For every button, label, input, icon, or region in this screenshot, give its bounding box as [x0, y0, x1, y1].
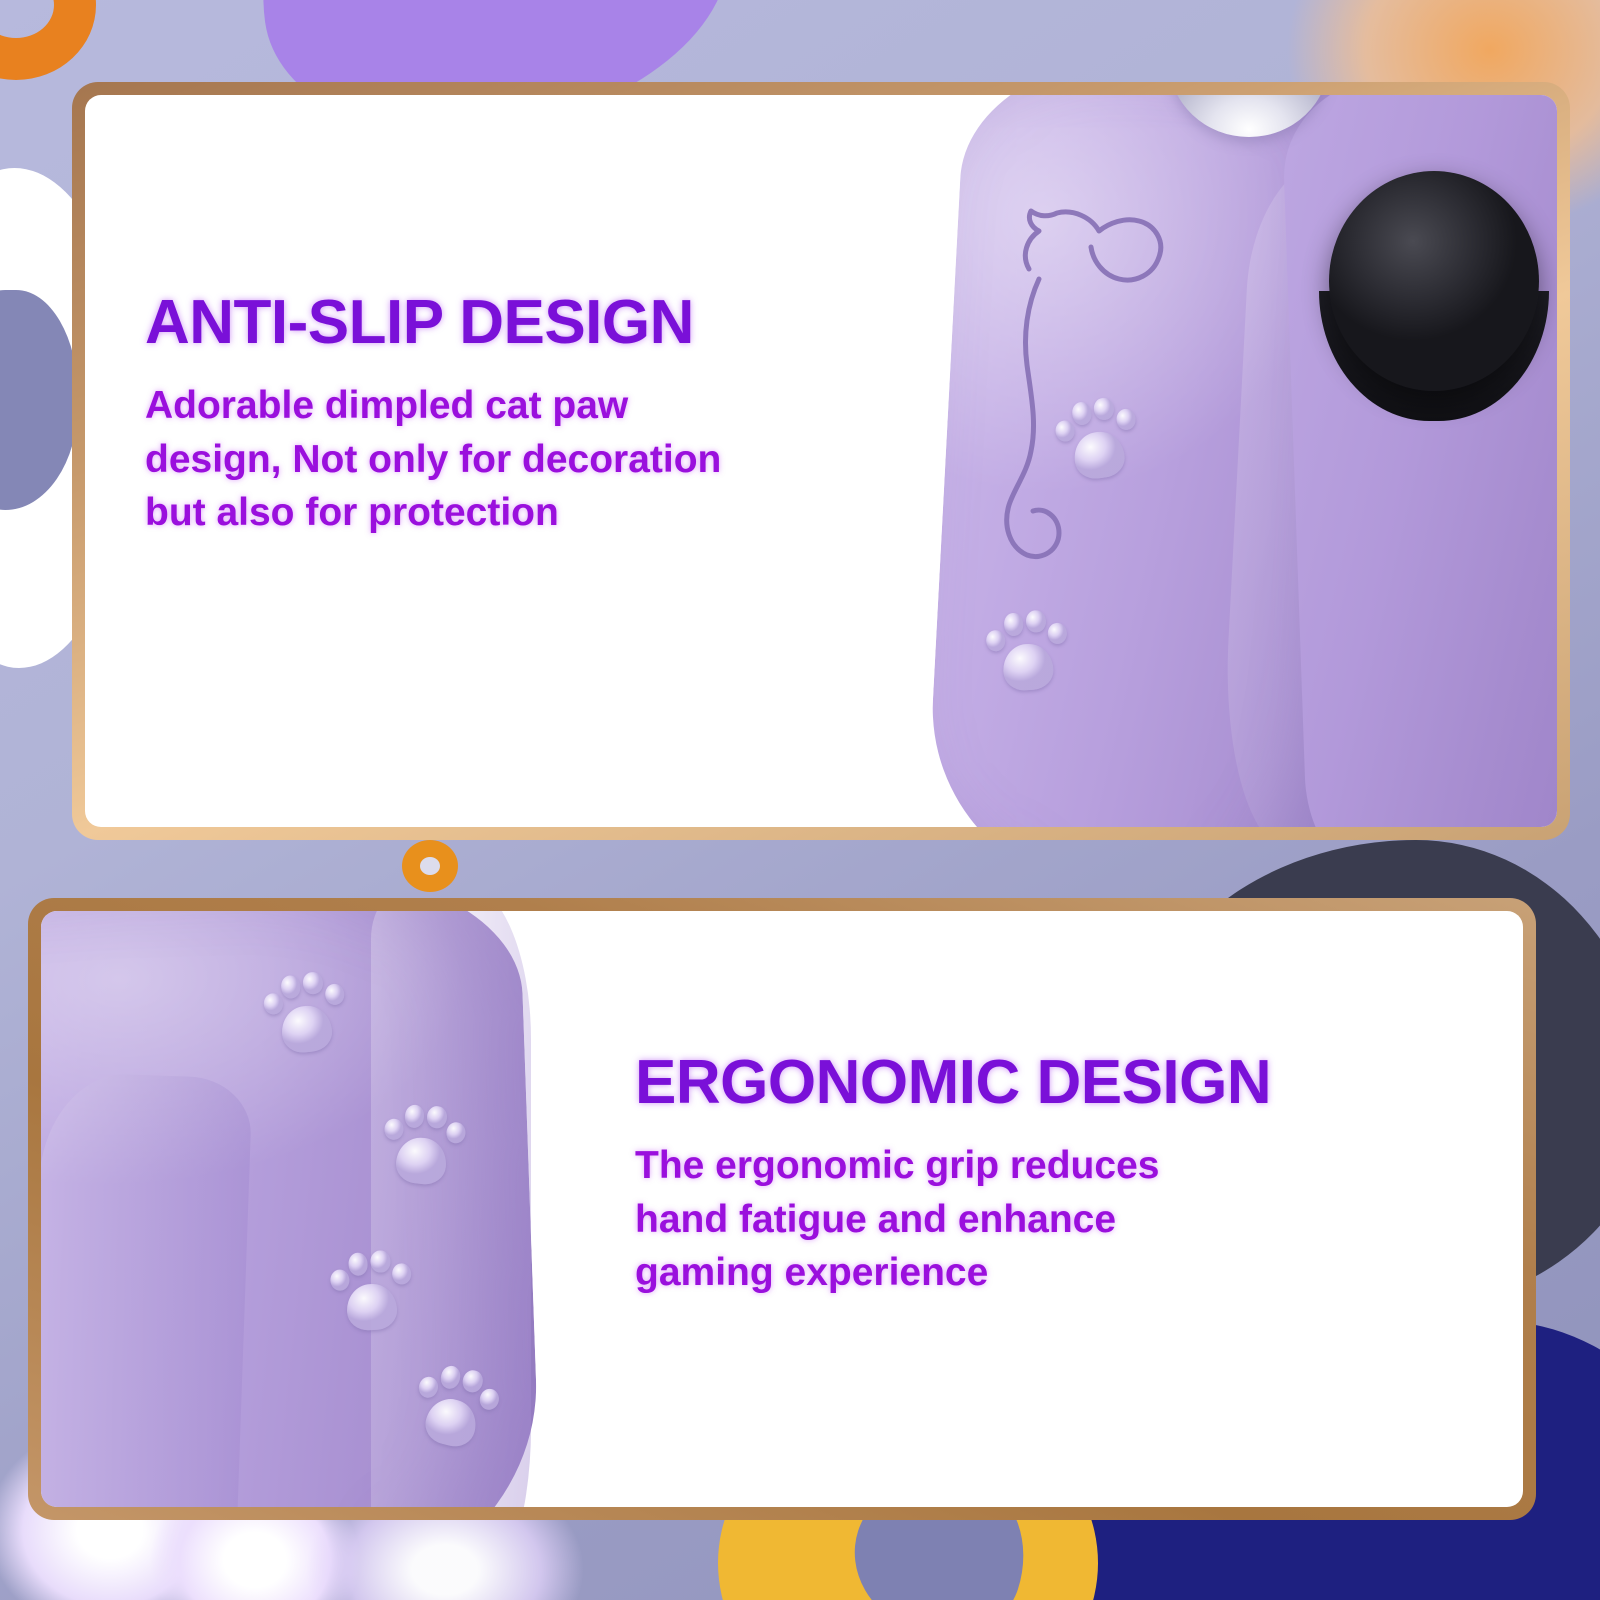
ergonomic-body-line-3: gaming experience	[635, 1251, 988, 1294]
thumbstick-icon	[1329, 171, 1539, 391]
anti-slip-headline: ANTI-SLIP DESIGN	[145, 291, 875, 355]
anti-slip-product-photo	[917, 95, 1557, 827]
ergonomic-headline: ERGONOMIC DESIGN	[635, 1051, 1441, 1115]
embossed-cat-outline-icon	[969, 183, 1199, 603]
paw-print-icon	[982, 604, 1074, 698]
panel-anti-slip: ANTI-SLIP DESIGN Adorable dimpled cat pa…	[72, 82, 1570, 840]
product-feature-graphic: ANTI-SLIP DESIGN Adorable dimpled cat pa…	[0, 0, 1600, 1600]
anti-slip-body-line-2: design, Not only for decoration	[145, 438, 721, 481]
ergonomic-body: The ergonomic grip reduces hand fatigue …	[635, 1139, 1441, 1298]
orange-ring-top-left-shape	[0, 0, 96, 80]
panel-ergonomic-card: ERGONOMIC DESIGN The ergonomic grip redu…	[41, 911, 1523, 1507]
anti-slip-body-line-1: Adorable dimpled cat paw	[145, 384, 628, 427]
paw-print-icon	[1049, 389, 1146, 488]
anti-slip-body: Adorable dimpled cat paw design, Not onl…	[145, 379, 875, 538]
paw-print-icon	[327, 1245, 417, 1337]
panel-anti-slip-card: ANTI-SLIP DESIGN Adorable dimpled cat pa…	[85, 95, 1557, 827]
paw-print-icon	[377, 1097, 472, 1194]
panel-ergonomic: ERGONOMIC DESIGN The ergonomic grip redu…	[28, 898, 1536, 1520]
ergonomic-body-line-2: hand fatigue and enhance	[635, 1198, 1116, 1241]
paw-print-icon	[259, 965, 354, 1062]
orange-ring-divider-icon	[402, 840, 458, 892]
anti-slip-body-line-3: but also for protection	[145, 491, 559, 534]
orange-ring-hole	[420, 857, 440, 875]
ergonomic-body-line-1: The ergonomic grip reduces	[635, 1144, 1159, 1187]
panel-anti-slip-copy: ANTI-SLIP DESIGN Adorable dimpled cat pa…	[85, 95, 875, 827]
ergonomic-product-photo	[41, 911, 611, 1507]
panel-ergonomic-copy: ERGONOMIC DESIGN The ergonomic grip redu…	[601, 911, 1441, 1507]
